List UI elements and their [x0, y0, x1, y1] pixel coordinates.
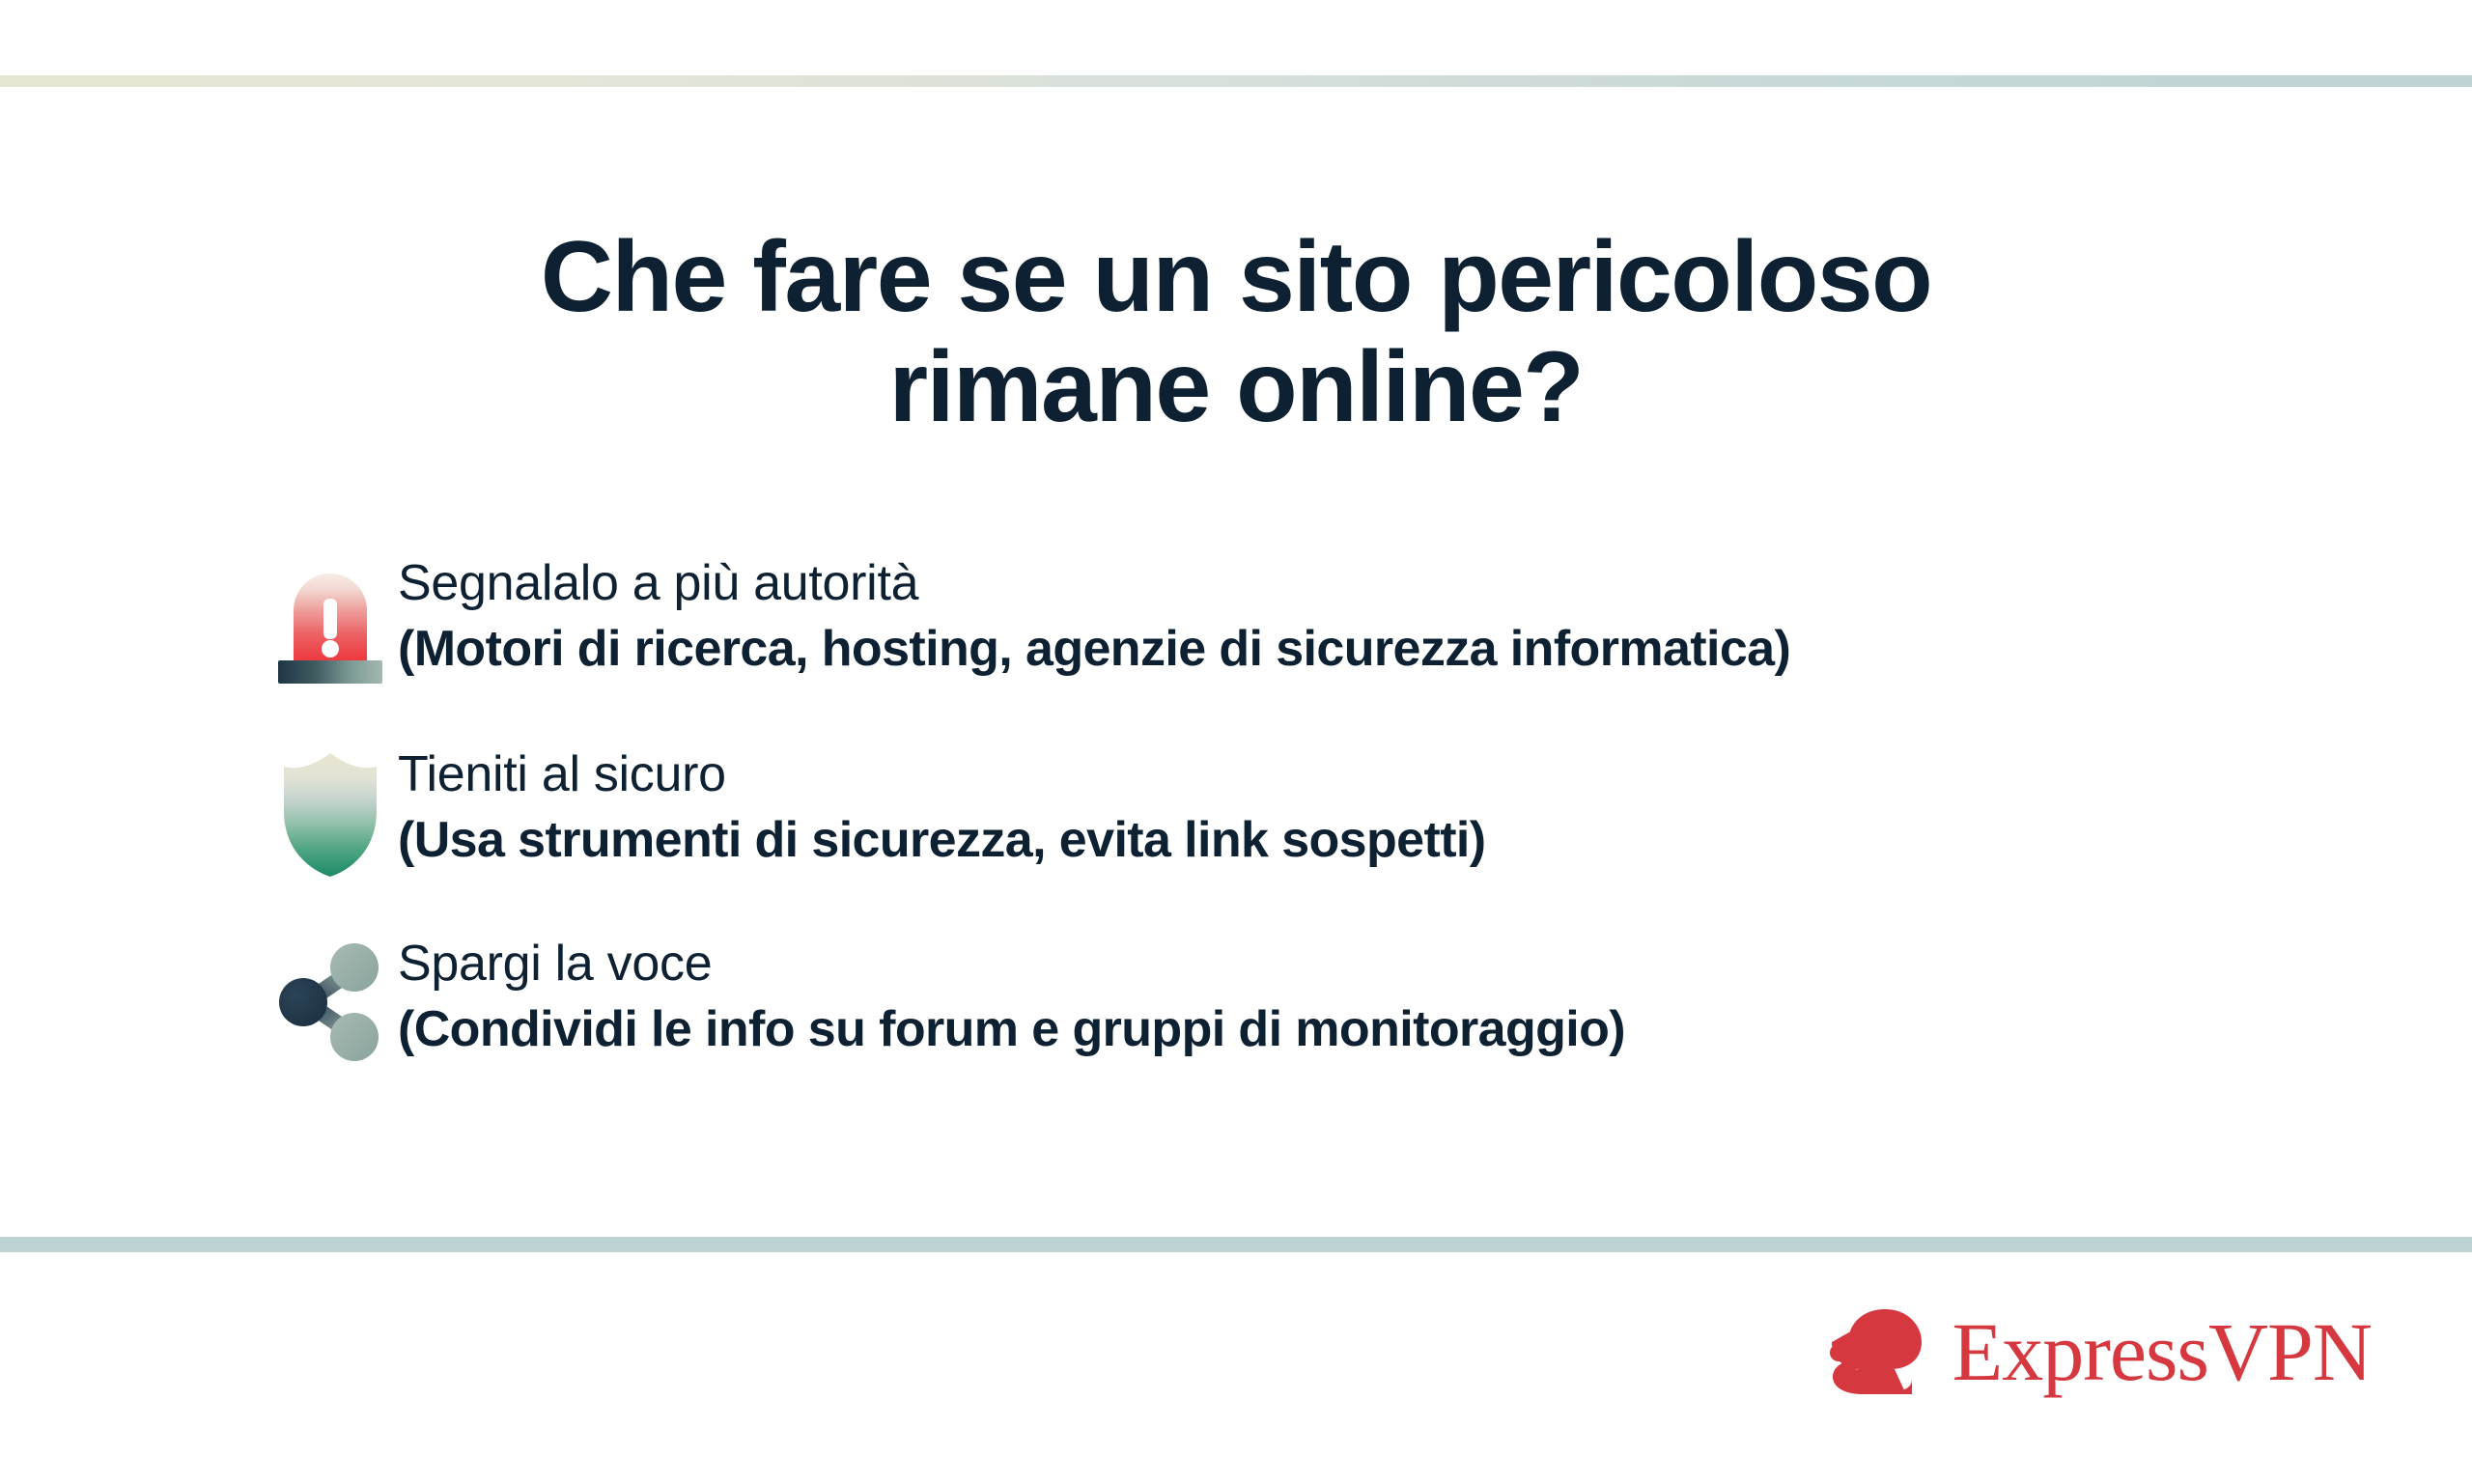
tip-heading: Tieniti al sicuro — [398, 745, 1485, 803]
tip-text: Spargi la voce (Condividi le info su for… — [398, 933, 1625, 1059]
tip-detail: (Motori di ricerca, hosting, agenzie di … — [398, 620, 1790, 678]
expressvpn-wordmark: ExpressVPN — [1952, 1310, 2372, 1393]
tip-detail: (Usa strumenti di sicurezza, evita link … — [398, 811, 1485, 869]
tip-detail: (Condividi le info su forum e gruppi di … — [398, 1000, 1625, 1058]
tip-heading: Spargi la voce — [398, 935, 1625, 993]
tip-text: Tieniti al sicuro (Usa strumenti di sicu… — [398, 743, 1485, 870]
tips-list: Segnalalo a più autorità (Motori di rice… — [263, 552, 2290, 1079]
top-accent-band — [0, 75, 2472, 87]
list-item: Segnalalo a più autorità (Motori di rice… — [263, 552, 2290, 699]
siren-icon — [263, 552, 398, 699]
title-line-1: Che fare se un sito pericoloso — [0, 222, 2472, 332]
expressvpn-mark-icon — [1827, 1302, 1927, 1402]
title-line-2: rimane online? — [0, 332, 2472, 442]
share-icon — [263, 933, 398, 1079]
expressvpn-logo: ExpressVPN — [1827, 1302, 2372, 1402]
tip-text: Segnalalo a più autorità (Motori di rice… — [398, 552, 1790, 679]
list-item: Tieniti al sicuro (Usa strumenti di sicu… — [263, 743, 2290, 890]
list-item: Spargi la voce (Condividi le info su for… — [263, 933, 2290, 1079]
shield-icon — [263, 743, 398, 890]
tip-heading: Segnalalo a più autorità — [398, 554, 1790, 612]
bottom-accent-band — [0, 1237, 2472, 1252]
page-title: Che fare se un sito pericoloso rimane on… — [0, 222, 2472, 443]
